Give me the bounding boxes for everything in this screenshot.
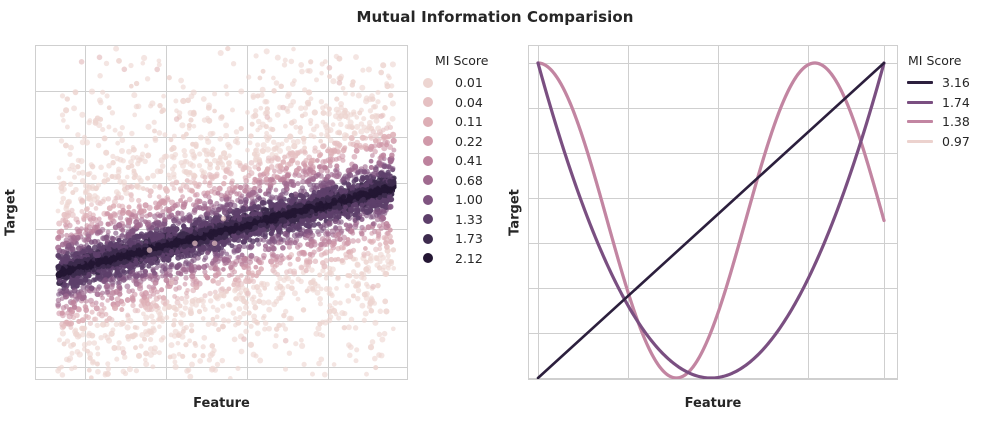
legend-item[interactable]: 0.11 (413, 112, 488, 132)
curve-panel: Target Feature (493, 0, 913, 425)
legend-item-label: 1.74 (942, 95, 970, 110)
legend-item[interactable]: 1.33 (413, 210, 488, 230)
legend-dot-icon (413, 253, 443, 263)
legend-item[interactable]: 2.12 (413, 249, 488, 269)
legend-item[interactable]: 0.41 (413, 151, 488, 171)
legend-item-label: 0.22 (455, 134, 483, 149)
legend-item[interactable]: 1.38 (905, 112, 970, 132)
legend-line-icon (905, 81, 935, 84)
legend-dot-icon (413, 97, 443, 107)
figure-root: Mutual Information Comparision Target Fe… (0, 0, 990, 425)
curve-legend-title: MI Score (908, 53, 970, 68)
legend-item-label: 0.97 (942, 134, 970, 149)
legend-item[interactable]: 0.97 (905, 132, 970, 152)
legend-item-label: 0.04 (455, 95, 483, 110)
scatter-legend: MI Score 0.010.040.110.220.410.681.001.3… (413, 53, 488, 268)
scatter-points (36, 46, 408, 380)
legend-dot-icon (413, 156, 443, 166)
curve-lines (529, 46, 898, 380)
legend-line-icon (905, 140, 935, 143)
legend-item[interactable]: 1.00 (413, 190, 488, 210)
curve-y-axis-label: Target (508, 183, 523, 243)
legend-dot-icon (413, 117, 443, 127)
legend-dot-icon (413, 78, 443, 88)
legend-dot-icon (413, 214, 443, 224)
legend-line-icon (905, 101, 935, 104)
legend-line-icon (905, 120, 935, 123)
legend-dot-icon (413, 175, 443, 185)
legend-item-label: 0.01 (455, 75, 483, 90)
legend-item[interactable]: 0.01 (413, 73, 488, 93)
legend-item[interactable]: 0.22 (413, 132, 488, 152)
scatter-panel: Target Feature (0, 0, 470, 425)
curve-x-axis-label: Feature (528, 396, 898, 411)
legend-item[interactable]: 3.16 (905, 73, 970, 93)
scatter-x-axis-label: Feature (35, 396, 408, 411)
legend-item[interactable]: 1.73 (413, 229, 488, 249)
scatter-legend-title: MI Score (435, 53, 488, 68)
legend-dot-icon (413, 136, 443, 146)
legend-item-label: 2.12 (455, 251, 483, 266)
curve-plot-area (528, 45, 898, 380)
scatter-y-axis-label: Target (4, 183, 19, 243)
legend-item-label: 0.68 (455, 173, 483, 188)
legend-item[interactable]: 0.68 (413, 171, 488, 191)
legend-item-label: 1.73 (455, 231, 483, 246)
curve-legend: MI Score 3.161.741.380.97 (905, 53, 970, 151)
legend-item-label: 0.11 (455, 114, 483, 129)
legend-dot-icon (413, 195, 443, 205)
scatter-plot-area (35, 45, 408, 380)
legend-item-label: 1.00 (455, 192, 483, 207)
legend-item-label: 1.33 (455, 212, 483, 227)
legend-item[interactable]: 0.04 (413, 93, 488, 113)
legend-dot-icon (413, 234, 443, 244)
legend-item-label: 0.41 (455, 153, 483, 168)
legend-item-label: 1.38 (942, 114, 970, 129)
legend-item[interactable]: 1.74 (905, 93, 970, 113)
legend-item-label: 3.16 (942, 75, 970, 90)
